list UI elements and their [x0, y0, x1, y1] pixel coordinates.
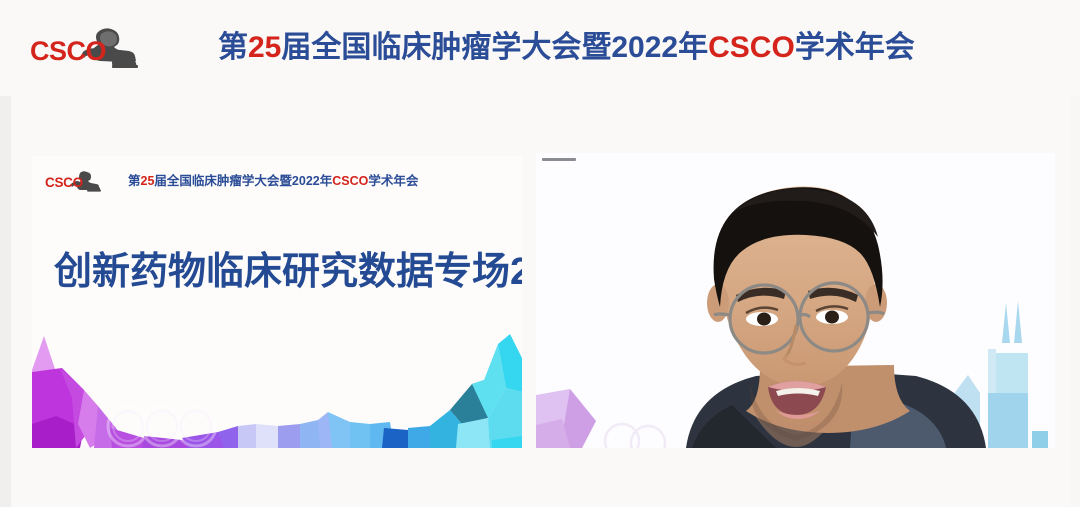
video-top-marker — [542, 158, 576, 161]
slide-conference-subtitle: 第25届全国临床肿瘤学大会暨2022年CSCO学术年会 — [128, 172, 418, 190]
slide-csco-logo-icon: CSCO — [44, 169, 106, 193]
screen-root: CSCO 第25届全国临床肿瘤学大会暨2022年CSCO学术年会 CSCO — [0, 0, 1080, 507]
content-area: CSCO 第25届全国临床肿瘤学大会暨2022年CSCO学术年会 创新药物临床研… — [0, 96, 1080, 507]
presentation-slide[interactable]: CSCO 第25届全国临床肿瘤学大会暨2022年CSCO学术年会 创新药物临床研… — [32, 156, 522, 448]
slide-session-title: 创新药物临床研究数据专场2 — [54, 248, 522, 296]
title-part-3: CSCO — [708, 31, 795, 64]
subhead-part-1: 25 — [141, 174, 155, 188]
title-part-4: 学术年会 — [795, 31, 915, 64]
title-part-2: 届全国临床肿瘤学大会暨2022年 — [281, 31, 708, 64]
speaker-portrait — [536, 153, 1055, 448]
subhead-part-0: 第 — [128, 174, 141, 188]
page-header: CSCO 第25届全国临床肿瘤学大会暨2022年CSCO学术年会 — [0, 0, 1080, 96]
csco-logo-icon: CSCO — [28, 24, 148, 70]
conference-title: 第25届全国临床肿瘤学大会暨2022年CSCO学术年会 — [218, 27, 915, 69]
subhead-part-2: 届全国临床肿瘤学大会暨2022年 — [154, 174, 332, 188]
subhead-part-3: CSCO — [332, 174, 368, 188]
low-poly-banner-graphic — [32, 328, 522, 448]
subhead-part-4: 学术年会 — [368, 174, 418, 188]
speaker-video-feed[interactable] — [536, 153, 1055, 448]
svg-text:CSCO: CSCO — [45, 175, 83, 190]
title-part-1: 25 — [248, 31, 281, 64]
title-part-0: 第 — [218, 31, 248, 64]
svg-text:CSCO: CSCO — [30, 36, 106, 66]
